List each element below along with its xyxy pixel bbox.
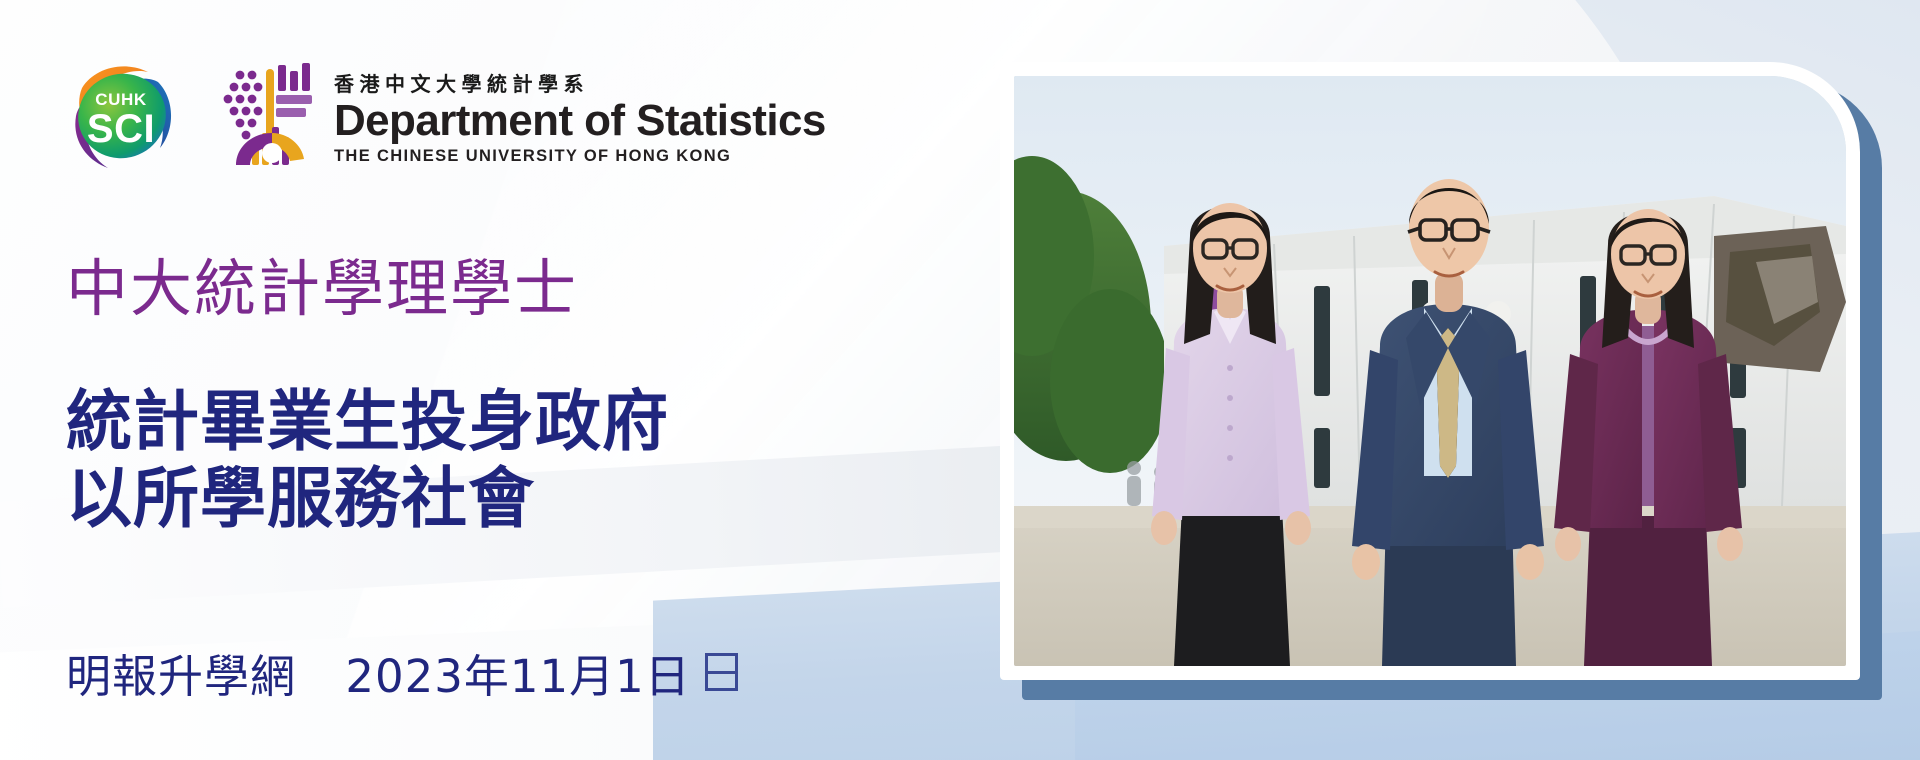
source-date: 2023年11月1日 [345, 650, 690, 703]
main-headline-line-2: 以所學服務社會 [66, 460, 669, 537]
department-university-name: THE CHINESE UNIVERSITY OF HONG KONG [334, 147, 826, 166]
department-english-name: Department of Statistics [334, 99, 826, 144]
banner: CUHK SCI [0, 0, 1920, 760]
photo-image [1014, 76, 1846, 666]
photo-scene [1014, 76, 1846, 666]
source-publication: 明報升學網 [66, 650, 296, 703]
photo-frame [1000, 62, 1860, 680]
decorative-glyph [705, 653, 738, 691]
department-chinese-name: 香港中文大學統計學系 [334, 68, 826, 97]
cuhk-sci-logo-text: CUHK SCI [62, 58, 180, 176]
cuhk-sci-line2: SCI [87, 109, 155, 149]
logo-row: CUHK SCI [62, 58, 826, 176]
programme-headline: 中大統計學理學士 [66, 238, 578, 328]
main-headline: 統計畢業生投身政府 以所學服務社會 [66, 383, 669, 537]
source-line: 明報升學網 2023年11月1日 [66, 640, 691, 705]
statistics-mark-icon [214, 61, 318, 173]
department-logo-text: 香港中文大學統計學系 Department of Statistics THE … [334, 68, 826, 166]
cuhk-sci-line1: CUHK [95, 91, 147, 108]
department-logo: 香港中文大學統計學系 Department of Statistics THE … [214, 61, 826, 173]
main-headline-line-1: 統計畢業生投身政府 [66, 383, 669, 460]
photo-block [1000, 62, 1860, 680]
cuhk-sci-logo: CUHK SCI [62, 58, 180, 176]
